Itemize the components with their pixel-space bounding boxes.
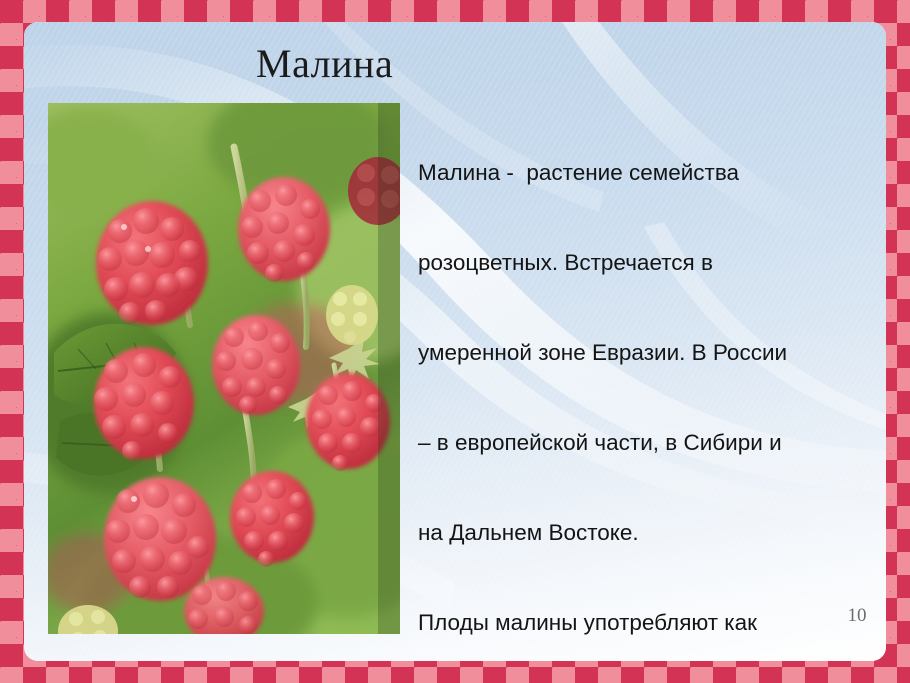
body-line: Плоды малины употребляют как bbox=[418, 608, 870, 638]
body-text: Малина - растение семейства розоцветных.… bbox=[418, 98, 870, 661]
page-title: Малина bbox=[256, 40, 393, 88]
body-line: на Дальнем Востоке. bbox=[418, 518, 870, 548]
slide-number: 10 bbox=[842, 605, 872, 627]
presentation-slide: Малина bbox=[0, 0, 910, 683]
body-line: Малина - растение семейства bbox=[418, 158, 870, 188]
body-line: розоцветных. Встречается в bbox=[418, 248, 870, 278]
raspberry-photo bbox=[48, 103, 400, 634]
body-line: – в европейской части, в Сибири и bbox=[418, 428, 870, 458]
slide-card: Малина bbox=[24, 22, 886, 661]
body-line: умеренной зоне Евразии. В России bbox=[418, 338, 870, 368]
